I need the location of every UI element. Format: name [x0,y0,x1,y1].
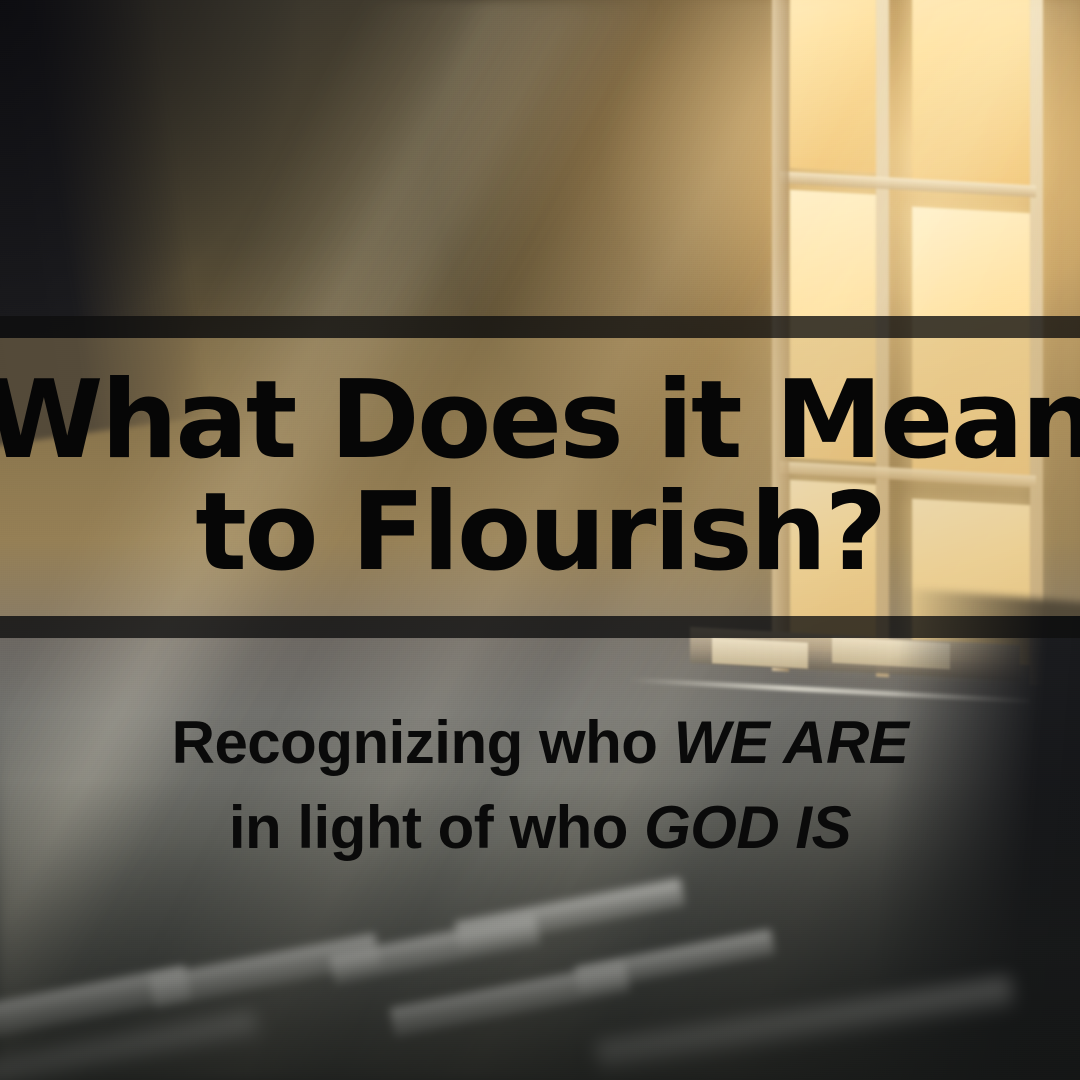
page-subtitle: Recognizing who WE ARE in light of who G… [0,700,1080,870]
title-band-rule-top [0,316,1080,338]
subtitle-line-1-emphasis: WE ARE [674,709,909,776]
page-title: What Does it Mean to Flourish? [0,338,1080,616]
vignette-top-left [0,0,300,340]
subtitle-line-2: in light of who GOD IS [229,785,851,870]
subtitle-line-1-prefix: Recognizing who [172,709,674,776]
title-line-1: What Does it Mean [0,366,1080,476]
subtitle-line-2-emphasis: GOD IS [644,794,851,861]
subtitle-line-1: Recognizing who WE ARE [172,700,909,785]
poster-canvas: What Does it Mean to Flourish? Recognizi… [0,0,1080,1080]
title-line-2: to Flourish? [195,478,884,588]
title-band-rule-bottom [0,616,1080,638]
subtitle-line-2-prefix: in light of who [229,794,644,861]
